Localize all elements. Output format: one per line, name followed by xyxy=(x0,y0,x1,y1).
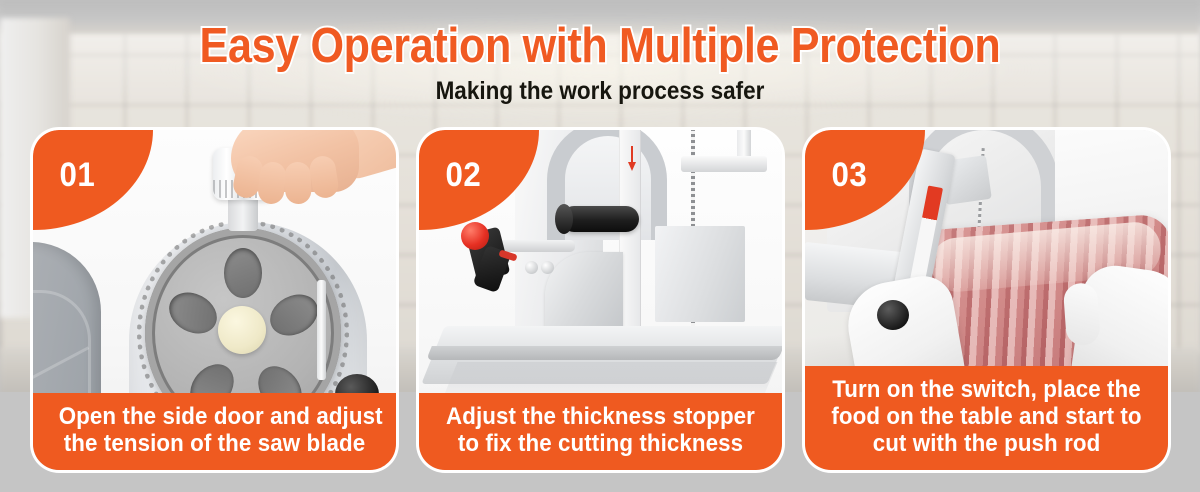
stopper-red-knob xyxy=(461,222,489,250)
step-1-caption-line-2: the tension of the saw blade xyxy=(59,430,371,457)
step-card-list: 01 Open the side door and adjust the ten… xyxy=(33,130,1168,470)
step-2-caption-line-2: to fix the cutting thickness xyxy=(445,430,757,457)
step-2-caption: Adjust the thickness stopper to fix the … xyxy=(419,393,782,470)
step-3-caption-line-2: food on the table and start to xyxy=(831,403,1143,430)
stopper-bolt xyxy=(525,261,538,274)
banner-title: Easy Operation with Multiple Protection xyxy=(72,20,1128,72)
step-card-2[interactable]: 02 Adjust the thickness stopper to fix t… xyxy=(419,130,782,470)
step-2-caption-line-1: Adjust the thickness stopper xyxy=(445,403,757,430)
work-table-edge xyxy=(426,346,782,360)
banner-header: Easy Operation with Multiple Protection … xyxy=(0,0,1200,105)
step-2-number: 02 xyxy=(446,158,482,192)
operator-finger xyxy=(257,161,287,205)
back-fence-plate xyxy=(655,226,745,322)
step-card-3[interactable]: 03 Turn on the switch, place the food on… xyxy=(805,130,1168,470)
stopper-handle-cap xyxy=(555,204,573,234)
flywheel-hole xyxy=(224,248,262,298)
scale-indicator-arrow xyxy=(628,162,636,171)
push-rod-knob xyxy=(877,300,909,330)
step-card-1[interactable]: 01 Open the side door and adjust the ten… xyxy=(33,130,396,470)
operator-hand xyxy=(201,130,396,220)
step-1-number: 01 xyxy=(60,158,96,192)
banner-subtitle: Making the work process safer xyxy=(60,77,1140,105)
operator-finger xyxy=(284,162,311,205)
promo-banner: Easy Operation with Multiple Protection … xyxy=(0,0,1200,492)
flywheel-hub xyxy=(218,306,266,354)
step-1-caption: Open the side door and adjust the tensio… xyxy=(33,393,396,470)
step-3-caption-line-3: cut with the push rod xyxy=(831,430,1143,457)
step-1-caption-line-1: Open the side door and adjust xyxy=(59,403,371,430)
tension-shaft xyxy=(317,280,326,380)
step-3-caption-line-1: Turn on the switch, place the xyxy=(831,376,1143,403)
stopper-bolt xyxy=(541,261,554,274)
step-3-number: 03 xyxy=(832,158,868,192)
step-3-caption: Turn on the switch, place the food on th… xyxy=(805,366,1168,470)
blade-guide-bracket xyxy=(681,156,767,172)
